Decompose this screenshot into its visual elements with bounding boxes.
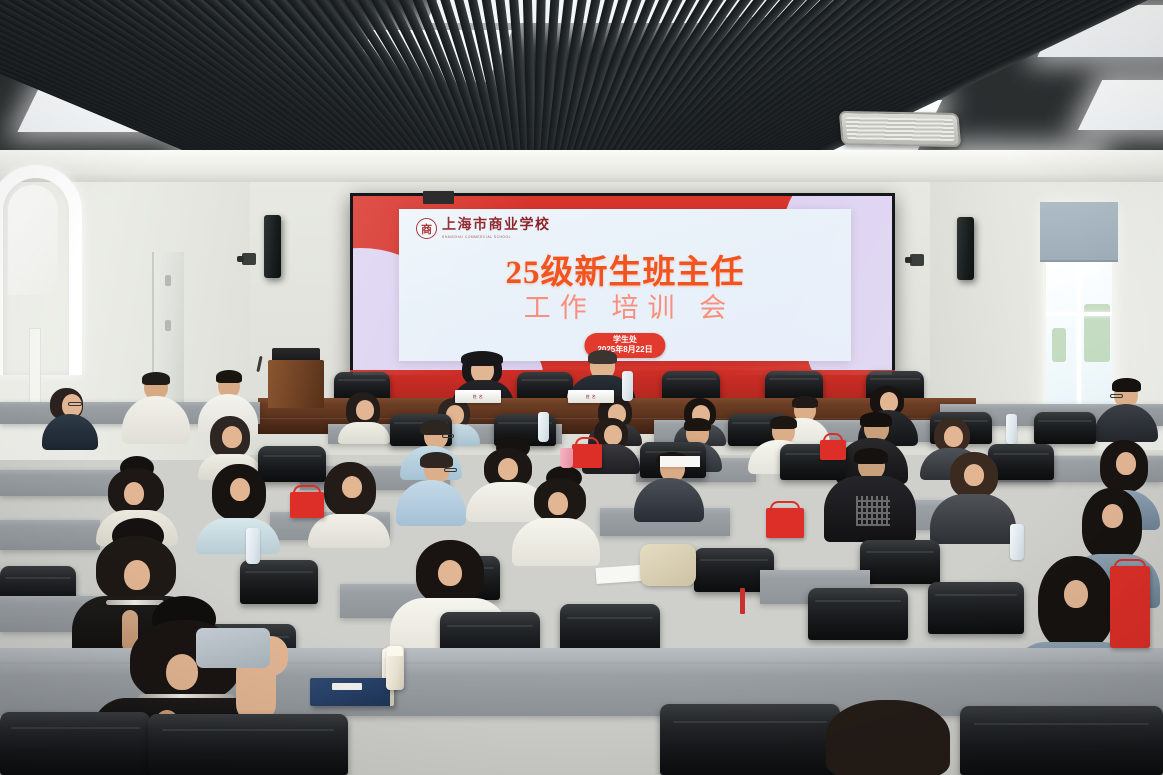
red-tote-bag[interactable]: [290, 492, 324, 518]
school-name-en: SHANGHAI COMMERCIAL SCHOOL: [442, 235, 551, 239]
folded-garment: [196, 628, 270, 668]
beige-handbag[interactable]: [640, 544, 696, 586]
audience-chair[interactable]: [808, 588, 908, 640]
door-hinge-icon: [165, 275, 171, 286]
attendee: [930, 452, 1018, 544]
slide-surface: 商 上海市商业学校 SHANGHAI COMMERCIAL SCHOOL 25级…: [353, 196, 892, 375]
lectern: [268, 360, 324, 408]
water-bottle[interactable]: [1010, 524, 1024, 560]
window-roller-blind[interactable]: [1040, 202, 1118, 262]
wall-camera-bracket-icon-left: [242, 253, 256, 265]
navy-notebook[interactable]: [310, 678, 394, 706]
badge-department: 学生处: [597, 335, 652, 345]
window-mullion: [1046, 312, 1112, 316]
nameplate-right: 姓 名: [568, 390, 614, 403]
red-tote-bag[interactable]: [820, 440, 846, 460]
window-mullion: [1077, 264, 1081, 414]
attendee: [40, 388, 102, 450]
ceiling-air-vent-icon: [839, 111, 962, 147]
wall-camera-bracket-icon: [910, 254, 924, 266]
slide-title: 25级新生班主任: [399, 257, 851, 290]
drink-cup[interactable]: [560, 448, 573, 468]
speaker-water-bottle[interactable]: [622, 371, 633, 401]
ceiling-soffit: [0, 150, 1163, 182]
attendee: [1094, 378, 1160, 442]
foreground-chair[interactable]: [960, 706, 1163, 775]
nameplate-left: 姓 名: [455, 390, 501, 403]
water-bottle[interactable]: [1006, 414, 1017, 444]
attendee: [824, 448, 918, 542]
handout-paper[interactable]: [660, 456, 700, 467]
attendee: [512, 470, 602, 566]
slide-content-card: 商 上海市商业学校 SHANGHAI COMMERCIAL SCHOOL 25级…: [399, 209, 851, 361]
school-logo: 商 上海市商业学校 SHANGHAI COMMERCIAL SCHOOL: [416, 218, 551, 239]
red-tote-bag[interactable]: [766, 508, 804, 538]
audience-chair[interactable]: [928, 582, 1024, 634]
red-folder[interactable]: [1110, 566, 1150, 648]
chair-leg: [740, 588, 745, 614]
attendee-foreground-back-of-head: [796, 700, 986, 775]
tshirt-graphic: [856, 496, 890, 526]
ceiling-light-panel: [1078, 80, 1163, 130]
attendee: [196, 464, 282, 554]
water-bottle[interactable]: [538, 412, 549, 442]
attendee: [396, 452, 468, 526]
window-foliage: [1052, 328, 1066, 362]
wall-speaker-right: [957, 217, 974, 280]
water-bottle[interactable]: [246, 528, 260, 564]
door-hinge-icon: [165, 320, 171, 331]
wall-speaker-left: [264, 215, 281, 278]
school-name: 上海市商业学校: [442, 219, 551, 233]
school-seal-icon: 商: [416, 218, 437, 239]
audience-chair[interactable]: [860, 540, 940, 584]
screen-camera-icon: [423, 191, 454, 204]
foreground-chair[interactable]: [0, 712, 150, 775]
foreground-chair[interactable]: [148, 714, 348, 775]
attendee: [336, 392, 392, 444]
attendee: [120, 372, 192, 444]
ceiling: [0, 0, 1163, 168]
slide-subtitle: 工作 培训 会: [399, 295, 851, 322]
conference-room-photo: 商 上海市商业学校 SHANGHAI COMMERCIAL SCHOOL 25级…: [0, 0, 1163, 775]
arch-glow: [8, 185, 58, 295]
red-tote-bag[interactable]: [572, 444, 602, 468]
thermos-flask[interactable]: [386, 646, 404, 690]
